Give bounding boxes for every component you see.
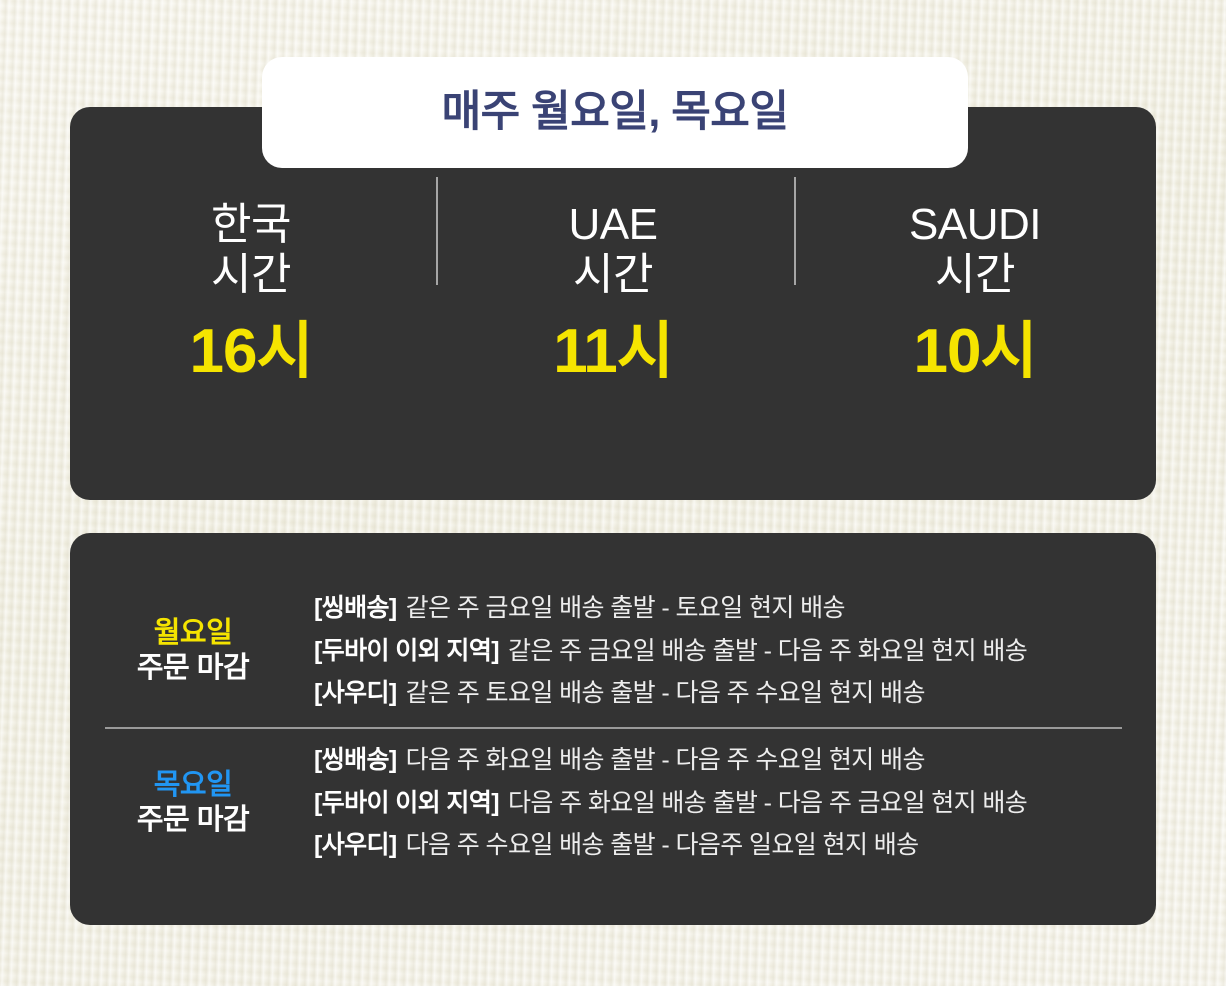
schedule-row-tag: [사우디] — [314, 831, 397, 859]
header-badge-label: 매주 월요일, 목요일 — [442, 91, 789, 134]
schedule-day-sub-thursday: 주문 마감 — [76, 803, 310, 838]
column-divider-2 — [794, 177, 796, 285]
schedule-row: [씽배송]다음 주 화요일 배송 출발 - 다음 주 수요일 현지 배송 — [314, 739, 1156, 782]
timezone-label-korea: 시간 — [211, 250, 291, 300]
schedule-row-text: 같은 주 토요일 배송 출발 - 다음 주 수요일 현지 배송 — [406, 679, 925, 707]
schedule-row-tag: [씽배송] — [314, 746, 397, 774]
schedule-row: [두바이 이외 지역]다음 주 화요일 배송 출발 - 다음 주 금요일 현지 … — [314, 782, 1156, 825]
schedule-rows-monday: [씽배송]같은 주 금요일 배송 출발 - 토요일 현지 배송 [두바이 이외 … — [310, 587, 1156, 715]
schedule-panel: 월요일 주문 마감 [씽배송]같은 주 금요일 배송 출발 - 토요일 현지 배… — [70, 533, 1156, 925]
column-divider-1 — [436, 177, 438, 285]
schedule-day-name-monday: 월요일 — [76, 616, 310, 651]
timezone-columns: 한국 시간 16시 UAE 시간 11시 SAUDI 시간 10시 — [70, 200, 1156, 450]
timezone-region-korea: 한국 — [211, 200, 291, 250]
timezone-hour-uae: 11시 — [553, 321, 673, 383]
timezone-hour-korea: 16시 — [189, 321, 312, 383]
timezone-label-uae: 시간 — [573, 250, 653, 300]
schedule-row-tag: [사우디] — [314, 679, 397, 707]
schedule-section-divider — [105, 727, 1122, 729]
schedule-block-monday: 월요일 주문 마감 [씽배송]같은 주 금요일 배송 출발 - 토요일 현지 배… — [70, 581, 1156, 721]
schedule-row: [사우디]같은 주 토요일 배송 출발 - 다음 주 수요일 현지 배송 — [314, 672, 1156, 715]
schedule-row-tag: [씽배송] — [314, 594, 397, 622]
schedule-row: [씽배송]같은 주 금요일 배송 출발 - 토요일 현지 배송 — [314, 587, 1156, 630]
schedule-day-sub-monday: 주문 마감 — [76, 651, 310, 686]
schedule-day-cell-thursday: 목요일 주문 마감 — [70, 768, 310, 839]
timezone-hour-saudi: 10시 — [913, 321, 1036, 383]
timezone-region-saudi: SAUDI — [909, 200, 1041, 250]
schedule-row: [두바이 이외 지역]같은 주 금요일 배송 출발 - 다음 주 화요일 현지 … — [314, 630, 1156, 673]
schedule-row-text: 다음 주 수요일 배송 출발 - 다음주 일요일 현지 배송 — [406, 831, 919, 859]
schedule-block-thursday: 목요일 주문 마감 [씽배송]다음 주 화요일 배송 출발 - 다음 주 수요일… — [70, 733, 1156, 873]
schedule-rows-thursday: [씽배송]다음 주 화요일 배송 출발 - 다음 주 수요일 현지 배송 [두바… — [310, 739, 1156, 867]
schedule-day-cell-monday: 월요일 주문 마감 — [70, 616, 310, 687]
schedule-row-text: 같은 주 금요일 배송 출발 - 토요일 현지 배송 — [406, 594, 845, 622]
schedule-row-text: 다음 주 화요일 배송 출발 - 다음 주 수요일 현지 배송 — [406, 746, 925, 774]
schedule-row-text: 같은 주 금요일 배송 출발 - 다음 주 화요일 현지 배송 — [508, 637, 1027, 665]
schedule-row-text: 다음 주 화요일 배송 출발 - 다음 주 금요일 현지 배송 — [508, 789, 1027, 817]
timezone-column-saudi: SAUDI 시간 10시 — [794, 200, 1156, 383]
timezone-column-uae: UAE 시간 11시 — [432, 200, 794, 383]
timezone-column-korea: 한국 시간 16시 — [70, 200, 432, 383]
timezone-label-saudi: 시간 — [935, 250, 1015, 300]
schedule-day-name-thursday: 목요일 — [76, 768, 310, 803]
header-badge: 매주 월요일, 목요일 — [262, 57, 968, 168]
schedule-row: [사우디]다음 주 수요일 배송 출발 - 다음주 일요일 현지 배송 — [314, 824, 1156, 867]
schedule-row-tag: [두바이 이외 지역] — [314, 637, 499, 665]
timezone-region-uae: UAE — [569, 200, 658, 250]
schedule-row-tag: [두바이 이외 지역] — [314, 789, 499, 817]
